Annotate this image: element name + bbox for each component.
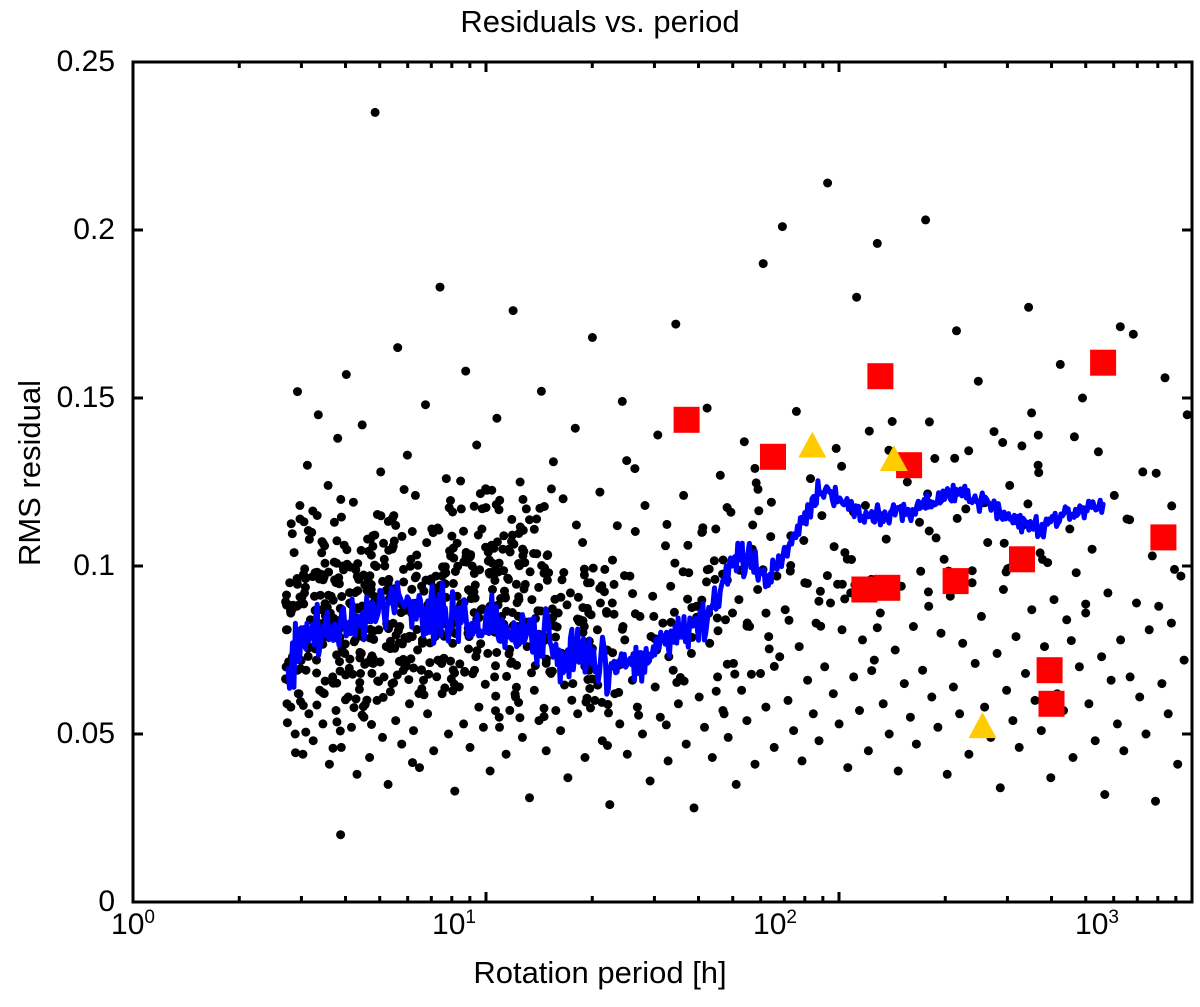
scatter-series-red-squares [674, 350, 1177, 717]
red-square-marker-11 [1150, 524, 1176, 550]
red-square-marker-1 [760, 444, 786, 470]
scatter-series-all-asteroids [281, 108, 1192, 839]
red-square-marker-6 [943, 568, 969, 594]
red-square-marker-0 [674, 407, 700, 433]
red-square-marker-7 [1009, 546, 1035, 572]
red-square-marker-2 [851, 577, 877, 603]
yellow-triangle-marker-2 [969, 712, 997, 738]
figure-canvas: Residuals vs. period RMS residual Rotati… [0, 0, 1200, 1007]
red-square-marker-9 [1039, 691, 1065, 717]
yellow-triangle-marker-0 [798, 432, 826, 458]
red-square-marker-3 [867, 363, 893, 389]
red-square-marker-10 [1090, 350, 1116, 376]
red-square-marker-8 [1037, 657, 1063, 683]
red-square-marker-4 [874, 575, 900, 601]
plot-area [0, 0, 1200, 1007]
axis-frame [133, 62, 1192, 902]
